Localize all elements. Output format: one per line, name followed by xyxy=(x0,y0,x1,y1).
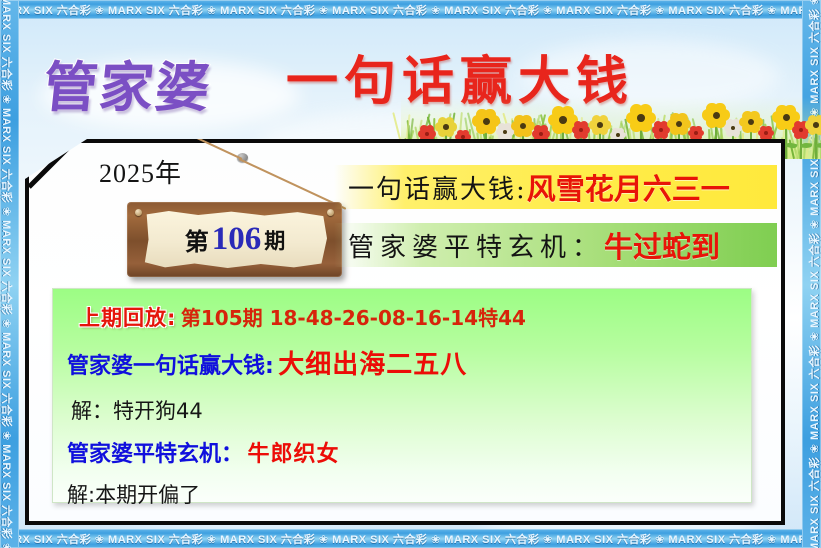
flower-head xyxy=(438,119,454,135)
flower-head xyxy=(706,105,726,125)
flower-head xyxy=(654,123,668,137)
recall-value: 第105期 18-48-26-08-16-14特44 xyxy=(181,306,526,330)
panel-corner-notch xyxy=(29,143,99,191)
flower-center xyxy=(483,118,490,125)
flower-head xyxy=(690,127,702,139)
prev-tip-label: 管家婆一句话赢大钱: xyxy=(67,354,274,379)
hanging-issue-sign: 第 106 期 xyxy=(107,151,357,286)
flower-head xyxy=(420,127,434,141)
sign-board: 第 106 期 xyxy=(127,202,342,277)
flower-center xyxy=(813,122,819,128)
explain-2-text: 解:本期开偏了 xyxy=(67,483,200,507)
banner-value-tip: 风雪花月六三一 xyxy=(527,166,730,208)
flower-head xyxy=(476,111,496,131)
recall-label: 上期回放: xyxy=(79,306,176,330)
flower-head xyxy=(574,123,588,137)
main-panel: 2025年 第 106 期 一句话赢大钱: 风雪花月六三一 xyxy=(25,139,785,525)
issue-suffix: 期 xyxy=(264,225,285,255)
border-top: MARX SIX 六合彩 ❀ MARX SIX 六合彩 ❀ MARX SIX 六… xyxy=(0,0,821,19)
flower-center xyxy=(637,114,645,122)
flower-head xyxy=(630,107,652,129)
prev-special-value: 牛郎织女 xyxy=(247,442,339,467)
flower-head xyxy=(742,113,760,131)
recap-box: 上期回放: 第105期 18-48-26-08-16-14特44 管家婆一句话赢… xyxy=(52,288,752,503)
recap-row-prev-special: 管家婆平特玄机： 牛郎织女 xyxy=(67,436,339,468)
flower-head xyxy=(534,127,548,141)
flower-head xyxy=(760,127,772,139)
flower-center xyxy=(713,112,720,119)
page-root: MARX SIX 六合彩 ❀ MARX SIX 六合彩 ❀ MARX SIX 六… xyxy=(0,0,821,548)
issue-text: 第 106 期 xyxy=(143,211,327,268)
border-ribbon-text: MARX SIX 六合彩 ❀ MARX SIX 六合彩 ❀ MARX SIX 六… xyxy=(0,2,821,18)
border-bottom: MARX SIX 六合彩 ❀ MARX SIX 六合彩 ❀ MARX SIX 六… xyxy=(0,529,821,548)
flower-head xyxy=(592,117,608,133)
flower-icon xyxy=(807,117,821,159)
banner-special-tip: 管家婆平特玄机： 牛过蛇到 xyxy=(334,223,777,267)
flower-head xyxy=(514,117,532,135)
banner-label-special: 管家婆平特玄机： xyxy=(348,227,604,264)
flower-head xyxy=(726,121,740,135)
prev-tip-value: 大细出海二五八 xyxy=(278,350,467,380)
border-ribbon-text: MARX SIX 六合彩 ❀ MARX SIX 六合彩 ❀ MARX SIX 六… xyxy=(0,531,821,547)
recap-row-recall: 上期回放: 第105期 18-48-26-08-16-14特44 xyxy=(79,302,526,332)
explain-1-text: 解：特开狗44 xyxy=(71,399,203,423)
banner-label-tip: 一句话赢大钱: xyxy=(348,169,527,206)
flower-center xyxy=(783,114,790,121)
recap-row-explain-2: 解:本期开偏了 xyxy=(67,479,200,509)
recap-row-explain-1: 解：特开狗44 xyxy=(71,395,203,425)
recap-row-prev-tip: 管家婆一句话赢大钱: 大细出海二五八 xyxy=(67,344,467,381)
flower-head xyxy=(552,109,574,131)
flower-center xyxy=(559,116,567,124)
prev-special-label: 管家婆平特玄机： xyxy=(67,442,243,467)
banner-value-special: 牛过蛇到 xyxy=(604,224,720,266)
issue-number: 106 xyxy=(212,221,262,258)
banner-main-tip: 一句话赢大钱: 风雪花月六三一 xyxy=(334,165,777,209)
sign-paper: 第 106 期 xyxy=(143,211,327,268)
site-logo-text: 管家婆 xyxy=(40,43,216,122)
issue-prefix: 第 xyxy=(185,222,209,257)
flower-head xyxy=(808,117,821,133)
flower-head xyxy=(670,115,688,133)
flower-head xyxy=(498,125,512,139)
masthead: 管家婆 一句话赢大钱 xyxy=(0,19,821,144)
flower-center xyxy=(443,124,449,130)
flower-center xyxy=(597,122,603,128)
